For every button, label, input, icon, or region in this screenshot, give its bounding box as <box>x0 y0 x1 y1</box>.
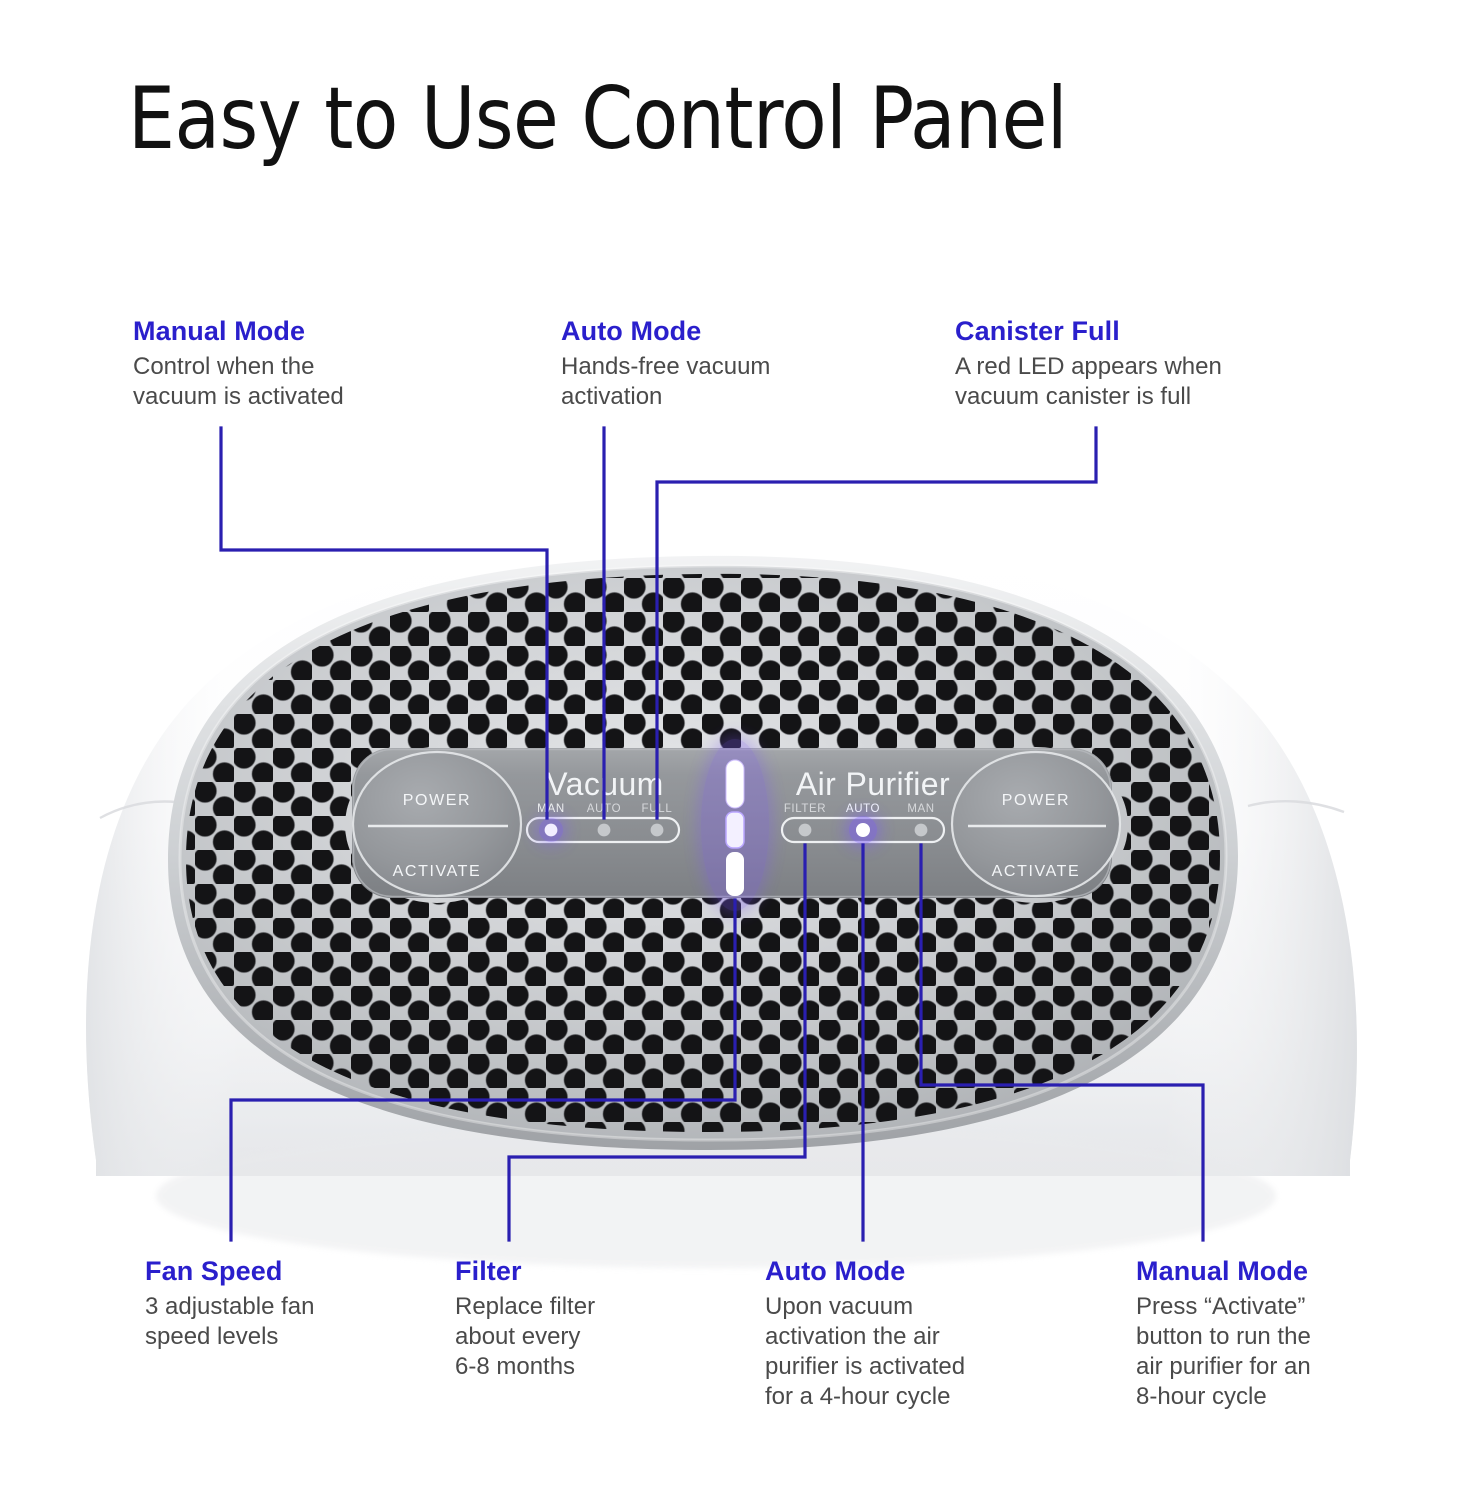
callout-auto-mode-top: Auto Mode Hands-free vacuum activation <box>561 316 770 412</box>
fan-speed-indicator[interactable] <box>701 739 769 911</box>
vacuum-led-man-label: MAN <box>537 803 565 815</box>
air-purifier-activate-label: ACTIVATE <box>992 863 1081 880</box>
callout-manual-mode-bottom: Manual Mode Press “Activate” button to r… <box>1136 1256 1311 1413</box>
fan-speed-bar-2 <box>726 812 744 848</box>
vacuum-led-man <box>539 818 563 842</box>
vacuum-power-label: POWER <box>403 792 471 809</box>
air-purifier-led-auto <box>849 816 877 844</box>
callout-title: Filter <box>455 1256 595 1287</box>
callout-title: Manual Mode <box>1136 1256 1311 1287</box>
callout-title: Auto Mode <box>561 316 770 347</box>
leader-filter <box>509 845 805 1240</box>
vacuum-activate-label: ACTIVATE <box>393 863 482 880</box>
vacuum-section-label: Vacuum <box>546 766 663 802</box>
callout-title: Manual Mode <box>133 316 344 347</box>
callout-title: Fan Speed <box>145 1256 314 1287</box>
device-body <box>86 538 1357 1268</box>
vacuum-led-auto <box>598 824 611 837</box>
vacuum-indicator-pill: MAN AUTO FULL <box>527 803 679 842</box>
callout-auto-mode-bottom: Auto Mode Upon vacuum activation the air… <box>765 1256 965 1413</box>
callout-manual-mode-top: Manual Mode Control when the vacuum is a… <box>133 316 344 412</box>
air-purifier-power-label: POWER <box>1002 792 1070 809</box>
vacuum-power-button[interactable]: POWER ACTIVATE <box>353 752 521 896</box>
callout-body: Control when the vacuum is activated <box>133 352 344 412</box>
vacuum-led-full <box>651 824 664 837</box>
callout-title: Canister Full <box>955 316 1222 347</box>
air-purifier-power-button[interactable]: POWER ACTIVATE <box>952 752 1120 896</box>
vacuum-led-auto-label: AUTO <box>587 803 622 815</box>
air-purifier-section-label: Air Purifier <box>796 766 950 802</box>
callout-title: Auto Mode <box>765 1256 965 1287</box>
page-title: Easy to Use Control Panel <box>128 76 1067 162</box>
callout-body: Upon vacuum activation the air purifier … <box>765 1292 965 1413</box>
air-purifier-led-man-label: MAN <box>907 803 934 815</box>
air-purifier-led-filter-label: FILTER <box>784 803 826 815</box>
perforated-grille <box>150 540 1270 1180</box>
air-purifier-indicator-pill: FILTER AUTO MAN <box>782 803 944 844</box>
vacuum-led-full-label: FULL <box>642 803 673 815</box>
callout-body: Replace filter about every 6-8 months <box>455 1292 595 1383</box>
callout-canister-full: Canister Full A red LED appears when vac… <box>955 316 1222 412</box>
air-purifier-led-man <box>915 824 928 837</box>
air-purifier-led-auto-label: AUTO <box>846 803 880 815</box>
callout-filter: Filter Replace filter about every 6-8 mo… <box>455 1256 595 1382</box>
leader-manual-mode-top <box>221 428 547 818</box>
callout-body: 3 adjustable fan speed levels <box>145 1292 314 1352</box>
infographic-canvas: Easy to Use Control Panel <box>0 0 1458 1500</box>
fan-speed-bar-3 <box>726 760 744 808</box>
fan-speed-bar-1 <box>726 852 744 896</box>
callout-body: Press “Activate” button to run the air p… <box>1136 1292 1311 1413</box>
control-bar: POWER ACTIVATE Vacuum MAN AUTO FULL <box>352 739 1120 911</box>
callout-body: A red LED appears when vacuum canister i… <box>955 352 1222 412</box>
callout-body: Hands-free vacuum activation <box>561 352 770 412</box>
callout-fan-speed: Fan Speed 3 adjustable fan speed levels <box>145 1256 314 1352</box>
leader-fan-speed <box>231 900 735 1240</box>
air-purifier-led-filter <box>799 824 812 837</box>
leader-manual-mode-bottom <box>921 845 1203 1240</box>
leader-canister-full <box>657 428 1096 818</box>
